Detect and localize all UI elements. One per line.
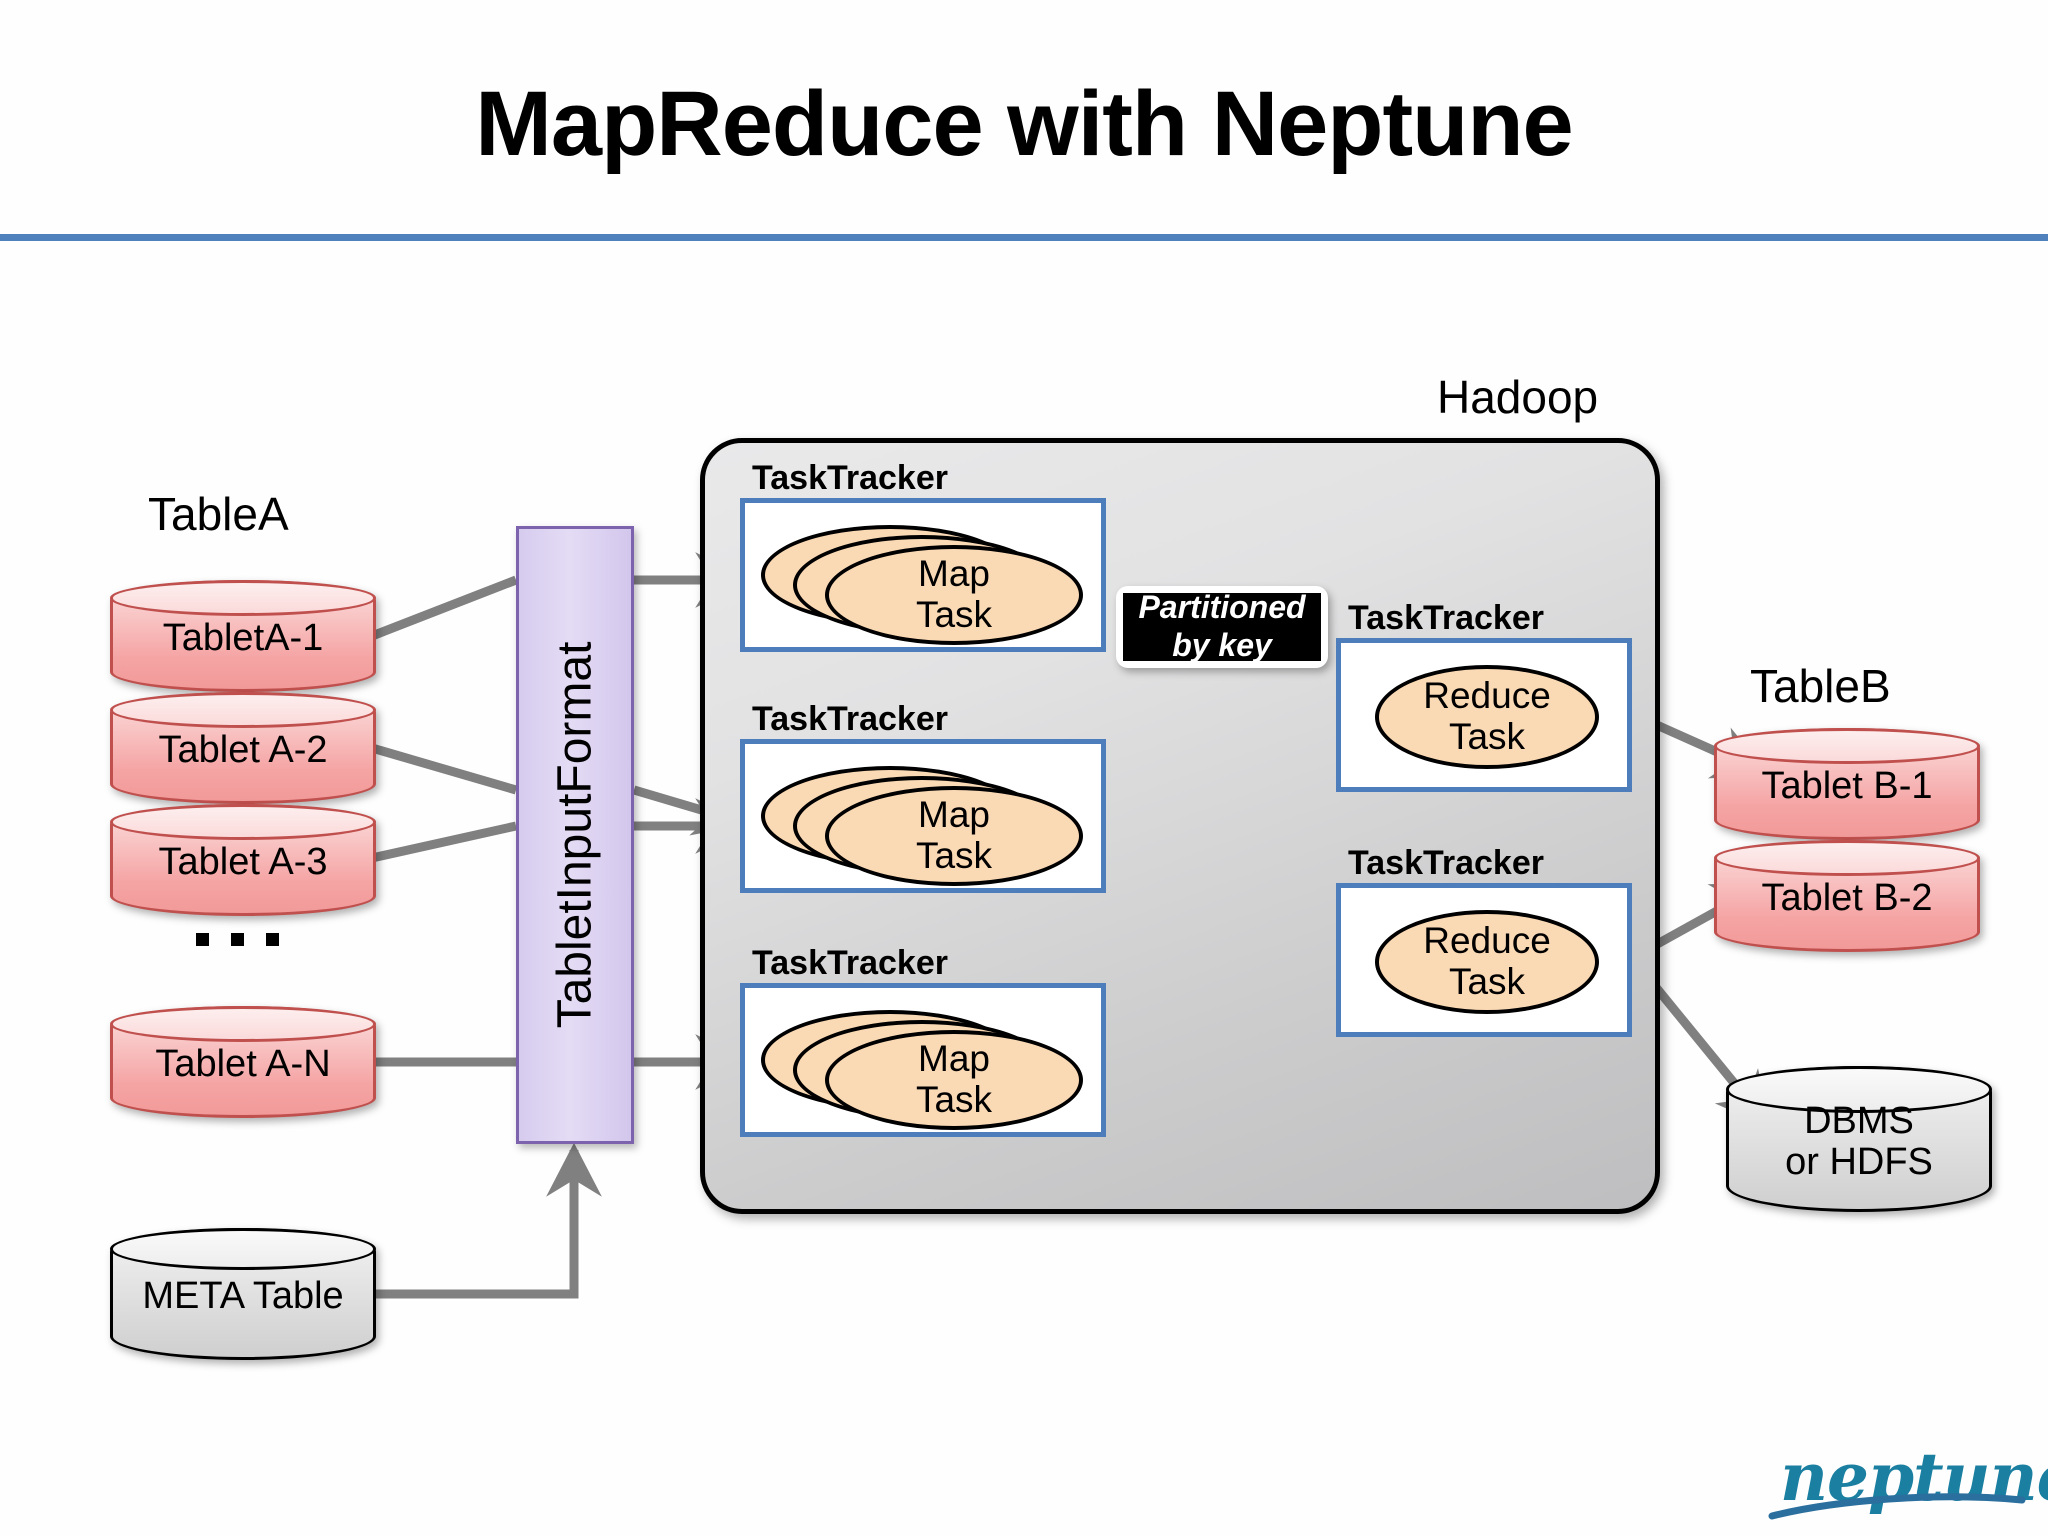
cylinder-lid [110,580,376,616]
tablet-label: Tablet A-N [155,1038,330,1085]
map-task-1[interactable]: Map Task [825,545,1083,645]
cylinder-lid [1714,840,1980,876]
edge-tabletA1-to-inputformat [372,580,516,636]
cylinder-lid [1714,728,1980,764]
meta-table-label: META Table [142,1270,343,1317]
hadoop-label: Hadoop [1437,370,1598,424]
map-tracker-2-box[interactable]: Map Task [740,739,1106,893]
edge-tabletA2-to-inputformat [372,748,516,790]
storage-label: DBMS or HDFS [1785,1095,1933,1183]
tablet-a-n[interactable]: Tablet A-N [110,1006,376,1118]
reduce-tracker-1-label: TaskTracker [1348,599,1544,638]
page-title: MapReduce with Neptune [0,78,2048,170]
cylinder-lid [110,692,376,728]
reduce-task-label-line2: Task [1449,962,1525,1003]
map-task-label-line1: Map [918,795,990,836]
reduce-tracker-1-box[interactable]: Reduce Task [1336,638,1632,792]
ellipsis-dots [196,933,279,946]
reduce-task-1[interactable]: Reduce Task [1375,665,1599,769]
neptune-logo-swoosh [1766,1434,2028,1526]
map-tracker-2-label: TaskTracker [752,700,948,739]
map-tracker-3-box[interactable]: Map Task [740,983,1106,1137]
dot [231,933,244,946]
map-tracker-1-box[interactable]: Map Task [740,498,1106,652]
tablet-a-2[interactable]: Tablet A-2 [110,692,376,804]
partition-note-line1: Partitioned [1138,589,1305,627]
partition-note: Partitioned by key [1116,586,1328,668]
map-task-label-line2: Task [916,1080,992,1121]
map-task-2[interactable]: Map Task [825,786,1083,886]
map-task-label-line2: Task [916,595,992,636]
tablet-input-format-label: TabletInputFormat [548,642,603,1029]
storage-label-line1: DBMS [1785,1101,1933,1142]
tablet-label: Tablet A-3 [159,836,328,883]
dot [196,933,209,946]
tablet-a-3[interactable]: Tablet A-3 [110,804,376,916]
edge-tabletA3-to-inputformat [372,826,516,858]
tablet-label: TabletA-1 [163,612,324,659]
tablet-label: Tablet B-2 [1761,872,1932,919]
cylinder-lid [110,1228,376,1270]
tablet-label: Tablet A-2 [159,724,328,771]
tablea-label: TableA [148,487,289,541]
map-task-label-line1: Map [918,554,990,595]
tablet-b-1[interactable]: Tablet B-1 [1714,728,1980,840]
dot [266,933,279,946]
map-tracker-3-label: TaskTracker [752,944,948,983]
reduce-task-label-line2: Task [1449,717,1525,758]
map-tracker-1-label: TaskTracker [752,459,948,498]
slide-canvas: MapReduce with Neptune [0,0,2048,1536]
reduce-task-label-line1: Reduce [1423,676,1551,717]
reduce-tracker-2-box[interactable]: Reduce Task [1336,883,1632,1037]
cylinder-lid [110,1006,376,1042]
map-task-label-line2: Task [916,836,992,877]
reduce-task-label-line1: Reduce [1423,921,1551,962]
reduce-tracker-2-label: TaskTracker [1348,844,1544,883]
storage-label-line2: or HDFS [1785,1142,1933,1183]
tablet-label: Tablet B-1 [1761,760,1932,807]
neptune-logo: neptune [1766,1434,2028,1526]
storage-dbms-or-hdfs[interactable]: DBMS or HDFS [1726,1066,1992,1212]
map-task-3[interactable]: Map Task [825,1030,1083,1130]
partition-note-inner: Partitioned by key [1123,593,1321,661]
map-task-label-line1: Map [918,1039,990,1080]
title-divider [0,234,2048,241]
tablet-b-2[interactable]: Tablet B-2 [1714,840,1980,952]
meta-table[interactable]: META Table [110,1228,376,1360]
tableb-label: TableB [1750,659,1891,713]
edge-meta-to-inputformat [372,1150,574,1294]
tablet-input-format-box[interactable]: TabletInputFormat [516,526,634,1144]
cylinder-lid [110,804,376,840]
tablet-a-1[interactable]: TabletA-1 [110,580,376,692]
reduce-task-2[interactable]: Reduce Task [1375,910,1599,1014]
partition-note-line2: by key [1172,627,1272,665]
